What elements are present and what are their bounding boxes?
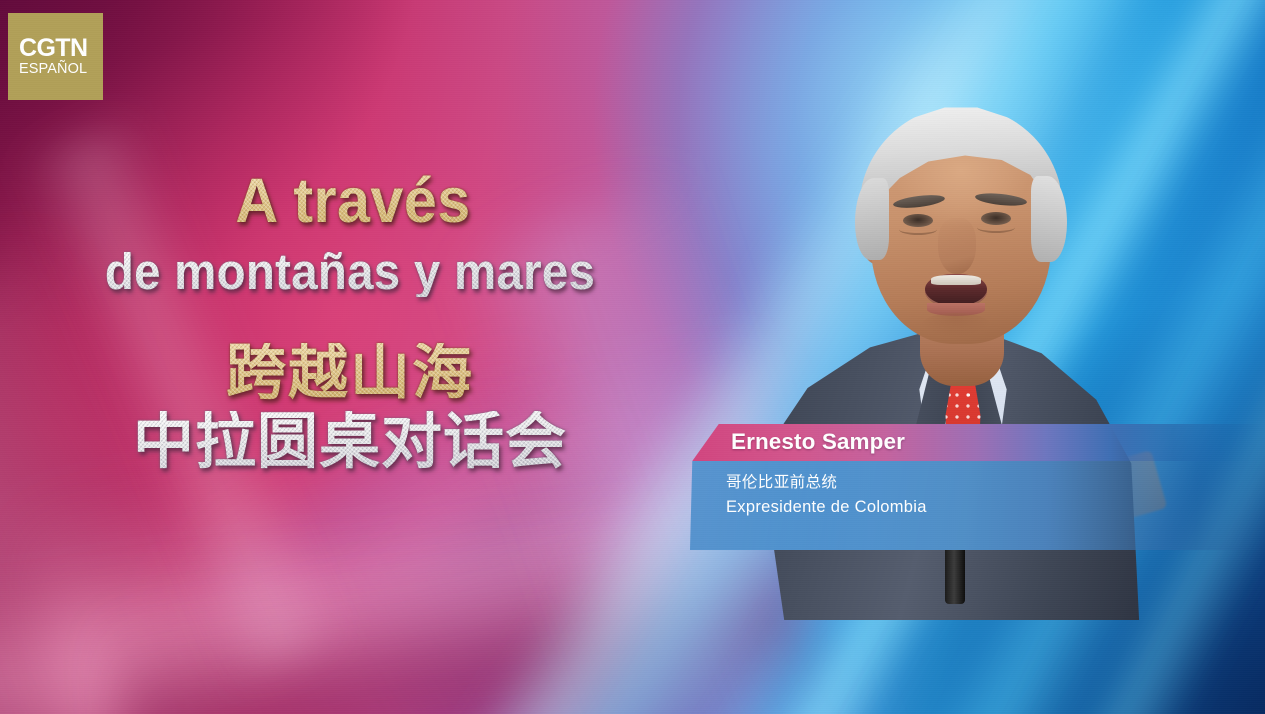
title-chinese-line-2: 中拉圆桌对话会 <box>0 411 700 472</box>
under-eye-left <box>899 224 937 235</box>
title-spanish-line-2: de montañas y mares <box>25 246 676 297</box>
title-chinese-line-1: 跨越山海 <box>0 343 700 403</box>
logo-sub-text: ESPAÑOL <box>19 61 87 79</box>
under-eye-right <box>977 222 1015 233</box>
program-title-block: A través de montañas y mares 跨越山海 中拉圆桌对话… <box>0 170 700 472</box>
nose <box>938 218 976 274</box>
cgtn-espanol-logo[interactable]: CGTN ESPAÑOL <box>8 13 103 100</box>
teeth <box>931 275 981 285</box>
chin <box>921 313 991 337</box>
hair-side-right <box>1031 176 1067 262</box>
logo-main-text: CGTN <box>19 35 87 61</box>
speaker-title-chinese: 哥伦比亚前总统 <box>726 470 837 492</box>
speaker-name: Ernesto Samper <box>731 429 905 455</box>
broadcast-graphic-frame: CGTN ESPAÑOL A través de montañas y mare… <box>0 0 1265 714</box>
title-spanish-line-1: A través <box>27 170 679 233</box>
hair-side-left <box>855 178 889 260</box>
lower-third-banner: Ernesto Samper 哥伦比亚前总统 Expresidente de C… <box>690 424 1265 550</box>
speaker-title-spanish: Expresidente de Colombia <box>726 498 927 517</box>
